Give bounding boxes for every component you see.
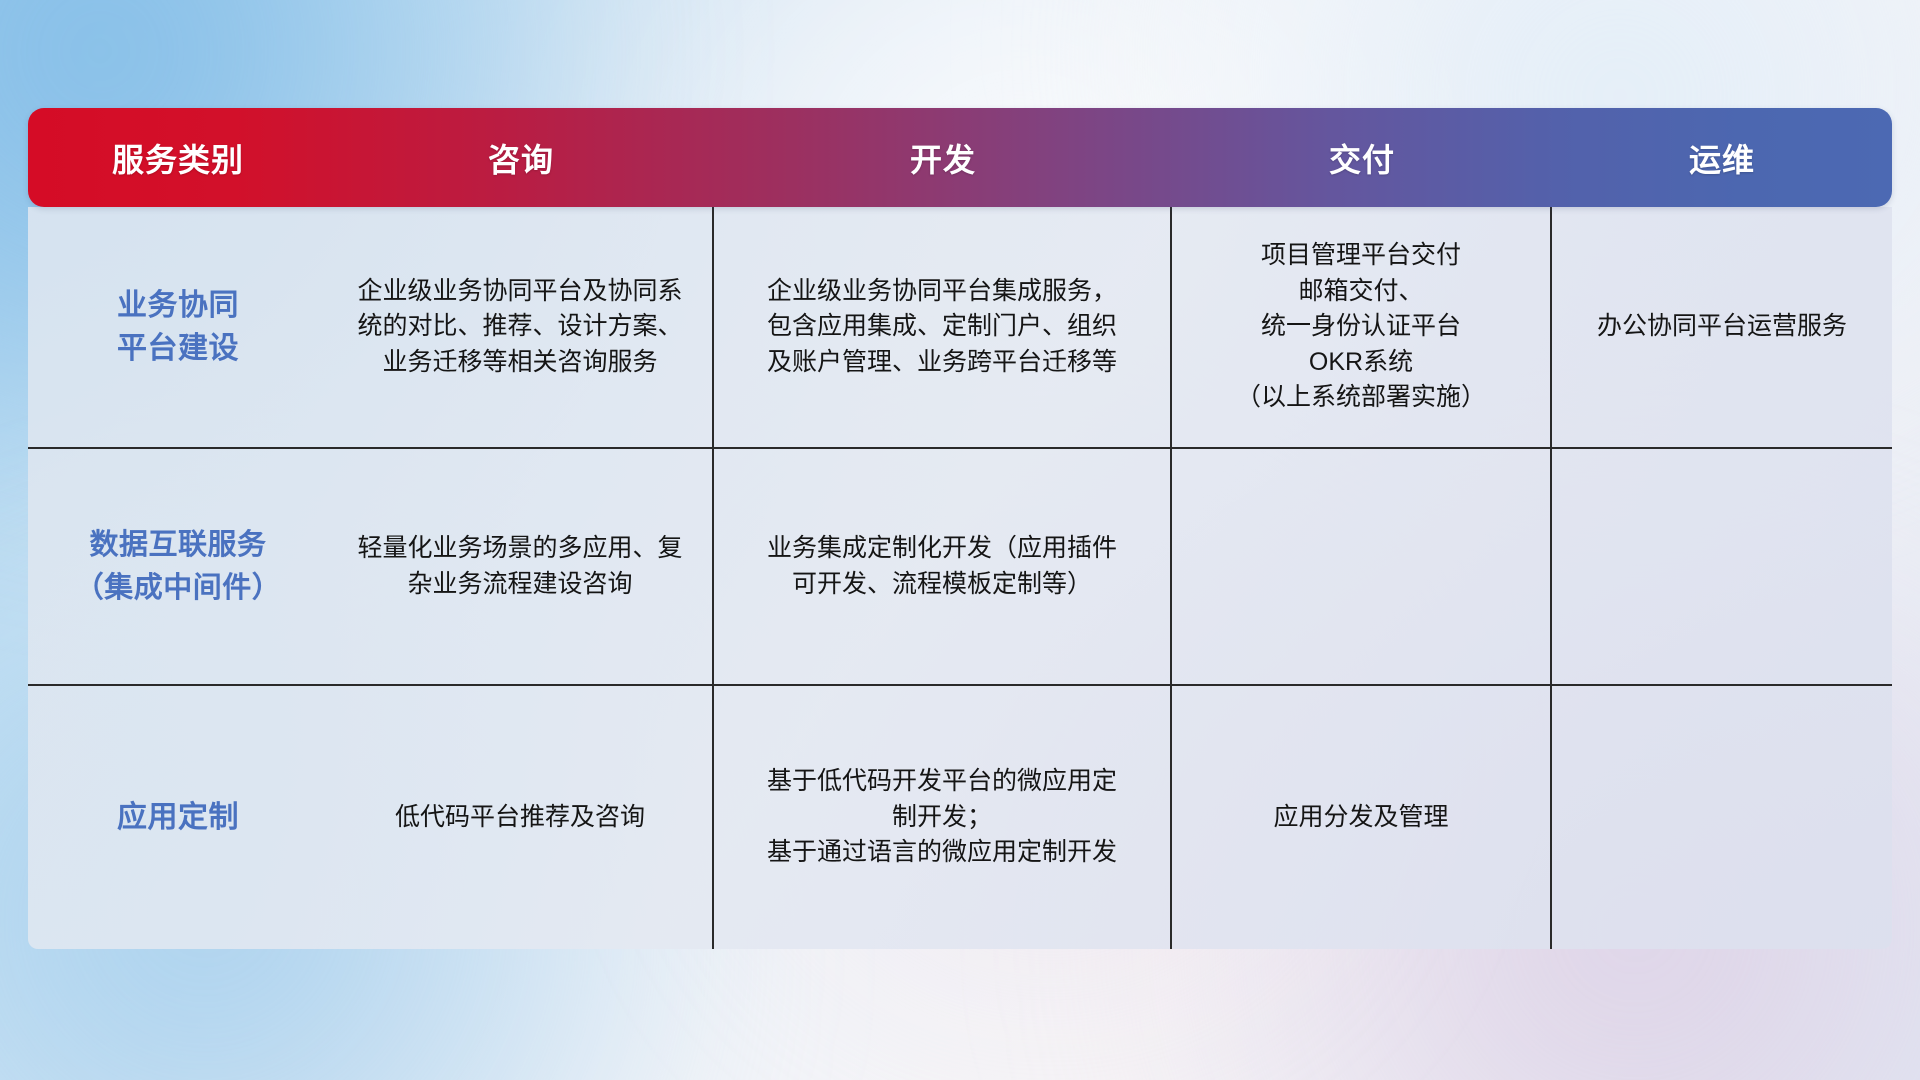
table-row: 数据互联服务 （集成中间件） 轻量化业务场景的多应用、复 杂业务流程建设咨询 业… <box>28 449 1892 686</box>
cell-text: 低代码平台推荐及咨询 <box>395 800 645 836</box>
column-header-development: 开发 <box>714 135 1172 181</box>
column-header-category: 服务类别 <box>28 135 328 181</box>
cell-text: 应用分发及管理 <box>1273 800 1448 836</box>
cell-text: 轻量化业务场景的多应用、复 杂业务流程建设咨询 <box>357 531 682 602</box>
column-header-consulting: 咨询 <box>328 135 714 181</box>
cell-text: 企业级业务协同平台及协同系 统的对比、推荐、设计方案、 业务迁移等相关咨询服务 <box>357 274 682 381</box>
table-row: 应用定制 低代码平台推荐及咨询 基于低代码开发平台的微应用定 制开发； 基于通过… <box>28 686 1892 949</box>
cell-delivery: 项目管理平台交付 邮箱交付、 统一身份认证平台 OKR系统 （以上系统部署实施） <box>1172 207 1552 447</box>
cell-text: 办公协同平台运营服务 <box>1597 309 1847 345</box>
row-label: 业务协同 平台建设 <box>117 284 239 371</box>
row-label-cell: 业务协同 平台建设 <box>28 207 328 447</box>
cell-text: 企业级业务协同平台集成服务， 包含应用集成、定制门户、组织 及账户管理、业务跨平… <box>767 274 1117 381</box>
service-matrix-table: 服务类别 咨询 开发 交付 运维 业务协同 平台建设 企业级业务协同平台及协同系… <box>28 108 1892 949</box>
cell-consulting: 低代码平台推荐及咨询 <box>328 686 714 949</box>
cell-delivery: 应用分发及管理 <box>1172 686 1552 949</box>
column-header-operations: 运维 <box>1552 135 1892 181</box>
cell-consulting: 轻量化业务场景的多应用、复 杂业务流程建设咨询 <box>328 449 714 684</box>
cell-consulting: 企业级业务协同平台及协同系 统的对比、推荐、设计方案、 业务迁移等相关咨询服务 <box>328 207 714 447</box>
cell-delivery <box>1172 449 1552 684</box>
table-body: 业务协同 平台建设 企业级业务协同平台及协同系 统的对比、推荐、设计方案、 业务… <box>28 207 1892 949</box>
cell-text: 项目管理平台交付 邮箱交付、 统一身份认证平台 OKR系统 （以上系统部署实施） <box>1236 238 1486 416</box>
column-header-delivery: 交付 <box>1172 135 1552 181</box>
cell-operations <box>1552 449 1892 684</box>
cell-development: 基于低代码开发平台的微应用定 制开发； 基于通过语言的微应用定制开发 <box>714 686 1172 949</box>
row-label-cell: 应用定制 <box>28 686 328 949</box>
table-row: 业务协同 平台建设 企业级业务协同平台及协同系 统的对比、推荐、设计方案、 业务… <box>28 207 1892 449</box>
cell-text: 业务集成定制化开发（应用插件 可开发、流程模板定制等） <box>767 531 1117 602</box>
row-label-cell: 数据互联服务 （集成中间件） <box>28 449 328 684</box>
row-label: 数据互联服务 （集成中间件） <box>75 524 282 608</box>
cell-development: 企业级业务协同平台集成服务， 包含应用集成、定制门户、组织 及账户管理、业务跨平… <box>714 207 1172 447</box>
cell-text: 基于低代码开发平台的微应用定 制开发； 基于通过语言的微应用定制开发 <box>767 764 1117 871</box>
row-label: 应用定制 <box>117 796 239 840</box>
cell-operations: 办公协同平台运营服务 <box>1552 207 1892 447</box>
cell-development: 业务集成定制化开发（应用插件 可开发、流程模板定制等） <box>714 449 1172 684</box>
table-header-row: 服务类别 咨询 开发 交付 运维 <box>28 108 1892 207</box>
cell-operations <box>1552 686 1892 949</box>
